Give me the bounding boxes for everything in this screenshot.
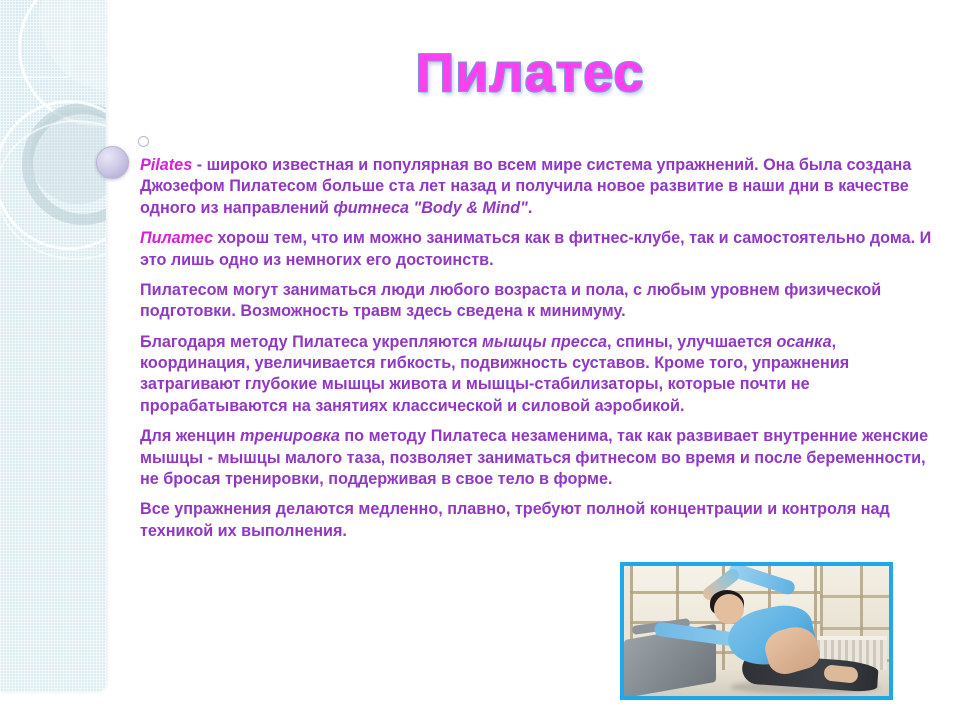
slide-canvas: Пилатес Pilates - широко известная и поп… (0, 0, 960, 720)
paragraph-1: Pilates - широко известная и популярная … (140, 155, 940, 219)
text-run-0: Благодаря методу Пилатеса укрепляются (140, 333, 482, 351)
text-run-2: , спины, улучшается (607, 333, 777, 351)
text-run-1: тренировка (240, 427, 340, 445)
paragraph-4: Благодаря методу Пилатеса укрепляются мы… (140, 332, 940, 418)
purple-sphere-icon (96, 146, 129, 179)
text-run-0: Пилатес (140, 229, 213, 247)
paragraph-2: Пилатес хорош тем, что им можно занимать… (140, 228, 940, 271)
photo-head (714, 594, 744, 624)
text-run-0: Пилатесом могут заниматься люди любого в… (140, 281, 881, 320)
pilates-photo-frame (620, 562, 893, 700)
text-run-0: Pilates (140, 156, 192, 174)
text-run-0: Все упражнения делаются медленно, плавно… (140, 500, 890, 539)
paragraph-6: Все упражнения делаются медленно, плавно… (140, 499, 940, 542)
text-run-0: Для женцин (140, 427, 240, 445)
text-run-2: фитнеса "Body & Mind" (333, 199, 527, 217)
paragraph-5: Для женцин тренировка по методу Пилатеса… (140, 426, 940, 490)
body-text: Pilates - широко известная и популярная … (140, 155, 940, 551)
decorative-sidebar (0, 0, 106, 692)
small-outline-circle-icon (138, 136, 149, 147)
text-run-3: . (528, 199, 533, 217)
text-run-1: хорош тем, что им можно заниматься как в… (140, 229, 931, 268)
paragraph-3: Пилатесом могут заниматься люди любого в… (140, 280, 940, 323)
page-title: Пилатес (150, 42, 910, 104)
text-run-3: осанка (777, 333, 832, 351)
pilates-photo (624, 566, 889, 696)
text-run-1: мышцы пресса (482, 333, 607, 351)
